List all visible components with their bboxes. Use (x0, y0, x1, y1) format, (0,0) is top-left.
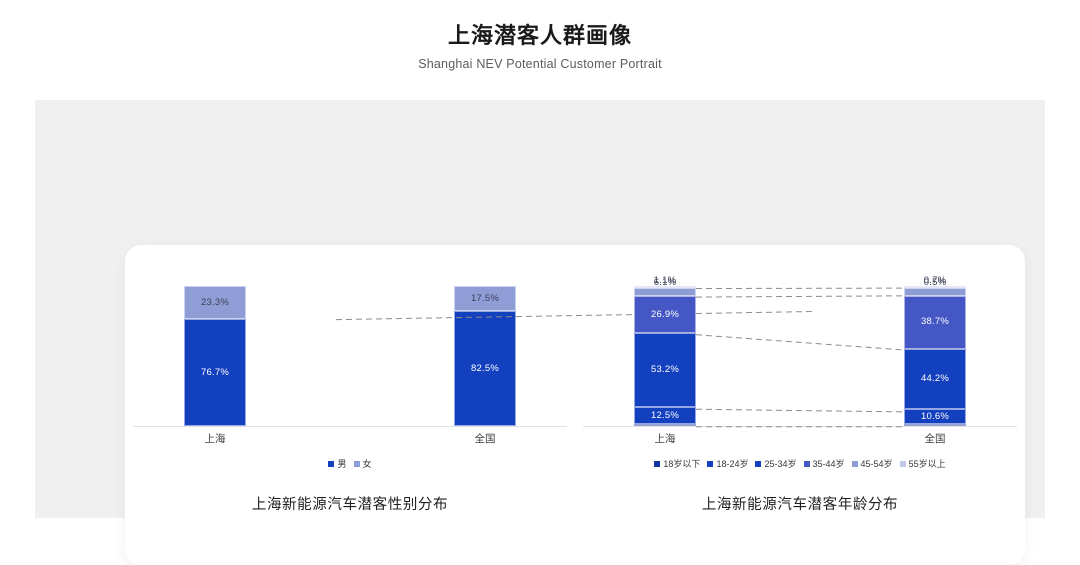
category-label: 上海 (205, 431, 226, 446)
bar-全国[interactable]: 82.5%17.5% (454, 286, 516, 426)
segment-value-label: 10.6% (921, 412, 949, 422)
legend-item[interactable]: 45-54岁 (852, 457, 893, 470)
chart-gender: 76.7%23.3%82.5%17.5%上海全国男女上海新能源汽车潜客性别分布 (125, 245, 575, 565)
legend-swatch-icon (328, 461, 334, 467)
bar-segment[interactable]: 12.5% (634, 407, 696, 424)
page-header: 上海潜客人群画像 Shanghai NEV Potential Customer… (0, 0, 1080, 71)
legend-item[interactable]: 18-24岁 (707, 457, 748, 470)
charts-card: 76.7%23.3%82.5%17.5%上海全国男女上海新能源汽车潜客性别分布0… (125, 245, 1025, 565)
chart-caption: 上海新能源汽车潜客性别分布 (125, 493, 575, 514)
legend-label: 18-24岁 (716, 457, 748, 470)
category-label: 全国 (475, 431, 496, 446)
bar-上海[interactable]: 0.2%12.5%53.2%26.9%6.1%1.1% (634, 286, 696, 426)
page-subtitle: Shanghai NEV Potential Customer Portrait (0, 57, 1080, 71)
chart-legend: 男女 (125, 457, 575, 470)
bar-segment[interactable]: 76.7% (184, 319, 246, 426)
legend-swatch-icon (900, 461, 906, 467)
page-title: 上海潜客人群画像 (0, 22, 1080, 50)
x-axis-line (133, 426, 567, 427)
legend-item[interactable]: 18岁以下 (654, 457, 700, 470)
charts-row: 76.7%23.3%82.5%17.5%上海全国男女上海新能源汽车潜客性别分布0… (125, 245, 1025, 565)
legend-label: 55岁以上 (909, 457, 946, 470)
bar-segment[interactable]: 6.1% (634, 288, 696, 296)
bar-segment[interactable]: 0.7% (904, 286, 966, 288)
bar-上海[interactable]: 76.7%23.3% (184, 286, 246, 426)
chart-age: 0.2%12.5%53.2%26.9%6.1%1.1%0.2%10.6%44.2… (575, 245, 1025, 565)
bar-segment[interactable]: 82.5% (454, 311, 516, 427)
legend-swatch-icon (654, 461, 660, 467)
segment-value-label: 76.7% (201, 368, 229, 378)
legend-label: 男 (337, 457, 346, 470)
legend-label: 45-54岁 (861, 457, 893, 470)
bar-segment[interactable]: 23.3% (184, 286, 246, 319)
legend-item[interactable]: 女 (354, 457, 372, 470)
bar-segment[interactable]: 53.2% (634, 333, 696, 406)
legend-swatch-icon (852, 461, 858, 467)
legend-label: 25-34岁 (764, 457, 796, 470)
segment-value-label: 26.9% (651, 310, 679, 320)
legend-swatch-icon (804, 461, 810, 467)
legend-item[interactable]: 男 (328, 457, 346, 470)
segment-value-label: 0.7% (924, 276, 946, 286)
plot-area: 0.2%12.5%53.2%26.9%6.1%1.1%0.2%10.6%44.2… (575, 287, 1025, 427)
legend-swatch-icon (707, 461, 713, 467)
chart-legend: 18岁以下18-24岁25-34岁35-44岁45-54岁55岁以上 (575, 457, 1025, 470)
bar-segment[interactable]: 26.9% (634, 296, 696, 333)
bar-segment[interactable]: 10.6% (904, 409, 966, 424)
plot-area: 76.7%23.3%82.5%17.5% (125, 287, 575, 427)
legend-item[interactable]: 35-44岁 (804, 457, 845, 470)
segment-value-label: 17.5% (471, 294, 499, 304)
segment-value-label: 12.5% (651, 411, 679, 421)
legend-item[interactable]: 25-34岁 (755, 457, 796, 470)
bar-segment[interactable]: 38.7% (904, 296, 966, 349)
segment-value-label: 1.1% (654, 276, 676, 286)
category-labels: 上海全国 (575, 431, 1025, 447)
segment-value-label: 53.2% (651, 365, 679, 375)
legend-label: 35-44岁 (813, 457, 845, 470)
bar-全国[interactable]: 0.2%10.6%44.2%38.7%0.5%0.7% (904, 286, 966, 426)
legend-label: 女 (363, 457, 372, 470)
chart-caption: 上海新能源汽车潜客年龄分布 (575, 493, 1025, 514)
segment-value-label: 82.5% (471, 364, 499, 374)
segment-value-label: 23.3% (201, 298, 229, 308)
legend-swatch-icon (354, 461, 360, 467)
segment-value-label: 44.2% (921, 374, 949, 384)
segment-value-label: 38.7% (921, 317, 949, 327)
bar-segment[interactable]: 0.5% (904, 288, 966, 296)
category-label: 上海 (655, 431, 676, 446)
category-labels: 上海全国 (125, 431, 575, 447)
legend-label: 18岁以下 (663, 457, 700, 470)
legend-item[interactable]: 55岁以上 (900, 457, 946, 470)
bar-segment[interactable]: 1.1% (634, 286, 696, 288)
bar-segment[interactable]: 44.2% (904, 349, 966, 410)
legend-swatch-icon (755, 461, 761, 467)
bar-segment[interactable]: 17.5% (454, 286, 516, 311)
gray-panel: 76.7%23.3%82.5%17.5%上海全国男女上海新能源汽车潜客性别分布0… (35, 100, 1045, 518)
x-axis-line (583, 426, 1017, 427)
category-label: 全国 (925, 431, 946, 446)
